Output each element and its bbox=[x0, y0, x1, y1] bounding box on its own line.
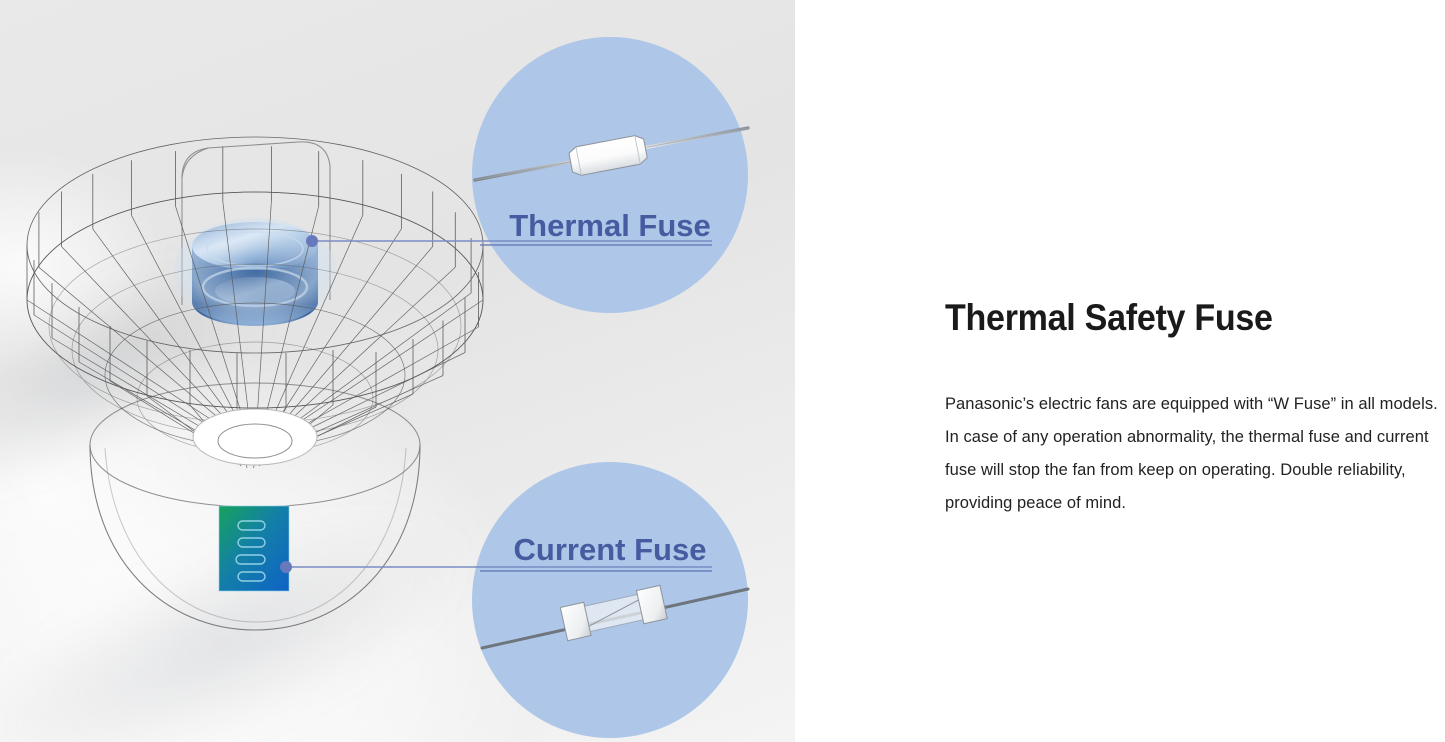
motor-housing bbox=[173, 218, 337, 326]
callout-thermal-fuse: Thermal Fuse bbox=[472, 37, 748, 313]
product-illustration-panel: Thermal Fuse Current Fuse bbox=[0, 0, 795, 742]
feature-description: Panasonic’s electric fans are equipped w… bbox=[945, 388, 1445, 520]
feature-section: Thermal Fuse Current Fuse bbox=[0, 0, 1445, 742]
feature-text-panel: Thermal Safety Fuse Panasonic’s electric… bbox=[795, 0, 1445, 742]
circuit-board bbox=[219, 506, 289, 591]
thermal-fuse-label: Thermal Fuse bbox=[509, 208, 711, 243]
callout-current-fuse: Current Fuse bbox=[472, 462, 748, 738]
page-title: Thermal Safety Fuse bbox=[945, 297, 1273, 339]
fan-diagram-svg: Thermal Fuse Current Fuse bbox=[0, 0, 795, 742]
fan-hub bbox=[193, 409, 317, 465]
current-fuse-label: Current Fuse bbox=[514, 532, 707, 567]
